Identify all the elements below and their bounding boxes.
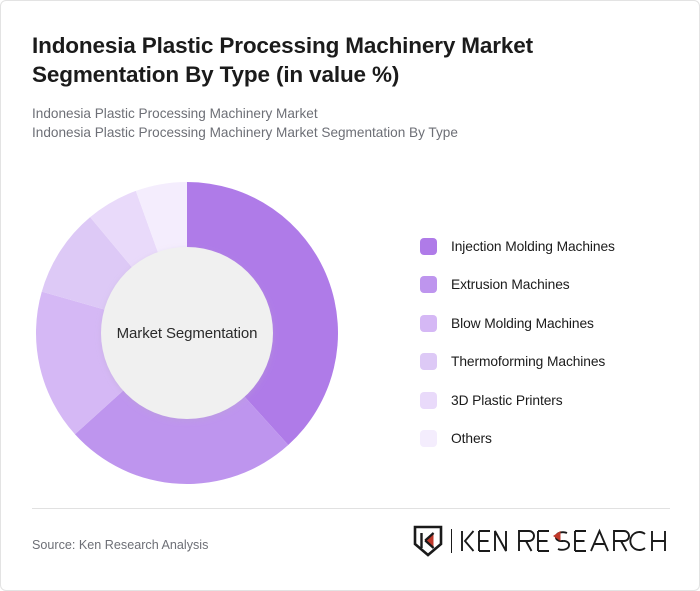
legend-label: Others xyxy=(451,431,492,446)
donut-chart: Market Segmentation xyxy=(27,173,347,493)
ken-research-wordmark xyxy=(459,528,669,554)
ken-research-shield-icon xyxy=(413,525,443,557)
brand-divider xyxy=(451,529,452,553)
legend-item[interactable]: Others xyxy=(420,420,680,459)
legend-label: Injection Molding Machines xyxy=(451,239,615,254)
legend-swatch xyxy=(420,430,437,447)
legend-label: Thermoforming Machines xyxy=(451,354,605,369)
chart-subtitle-primary: Indonesia Plastic Processing Machinery M… xyxy=(32,104,632,123)
legend-swatch xyxy=(420,315,437,332)
donut-chart-svg xyxy=(27,173,347,493)
page-title: Indonesia Plastic Processing Machinery M… xyxy=(32,31,632,90)
legend-item[interactable]: Blow Molding Machines xyxy=(420,304,680,343)
footer-divider xyxy=(32,508,670,509)
chart-header: Indonesia Plastic Processing Machinery M… xyxy=(32,31,632,142)
legend-label: 3D Plastic Printers xyxy=(451,393,563,408)
legend-swatch xyxy=(420,276,437,293)
legend-swatch xyxy=(420,238,437,255)
legend-item[interactable]: 3D Plastic Printers xyxy=(420,381,680,420)
brand-logo xyxy=(413,525,669,557)
legend-item[interactable]: Thermoforming Machines xyxy=(420,343,680,382)
donut-hole xyxy=(101,247,273,419)
source-note: Source: Ken Research Analysis xyxy=(32,538,208,552)
legend-item[interactable]: Extrusion Machines xyxy=(420,266,680,305)
chart-legend: Injection Molding MachinesExtrusion Mach… xyxy=(420,227,680,458)
chart-subtitle-secondary: Indonesia Plastic Processing Machinery M… xyxy=(32,123,632,142)
legend-item[interactable]: Injection Molding Machines xyxy=(420,227,680,266)
subtitle-group: Indonesia Plastic Processing Machinery M… xyxy=(32,104,632,143)
legend-swatch xyxy=(420,392,437,409)
legend-swatch xyxy=(420,353,437,370)
chart-card: Indonesia Plastic Processing Machinery M… xyxy=(0,0,700,591)
legend-label: Extrusion Machines xyxy=(451,277,570,292)
legend-label: Blow Molding Machines xyxy=(451,316,594,331)
